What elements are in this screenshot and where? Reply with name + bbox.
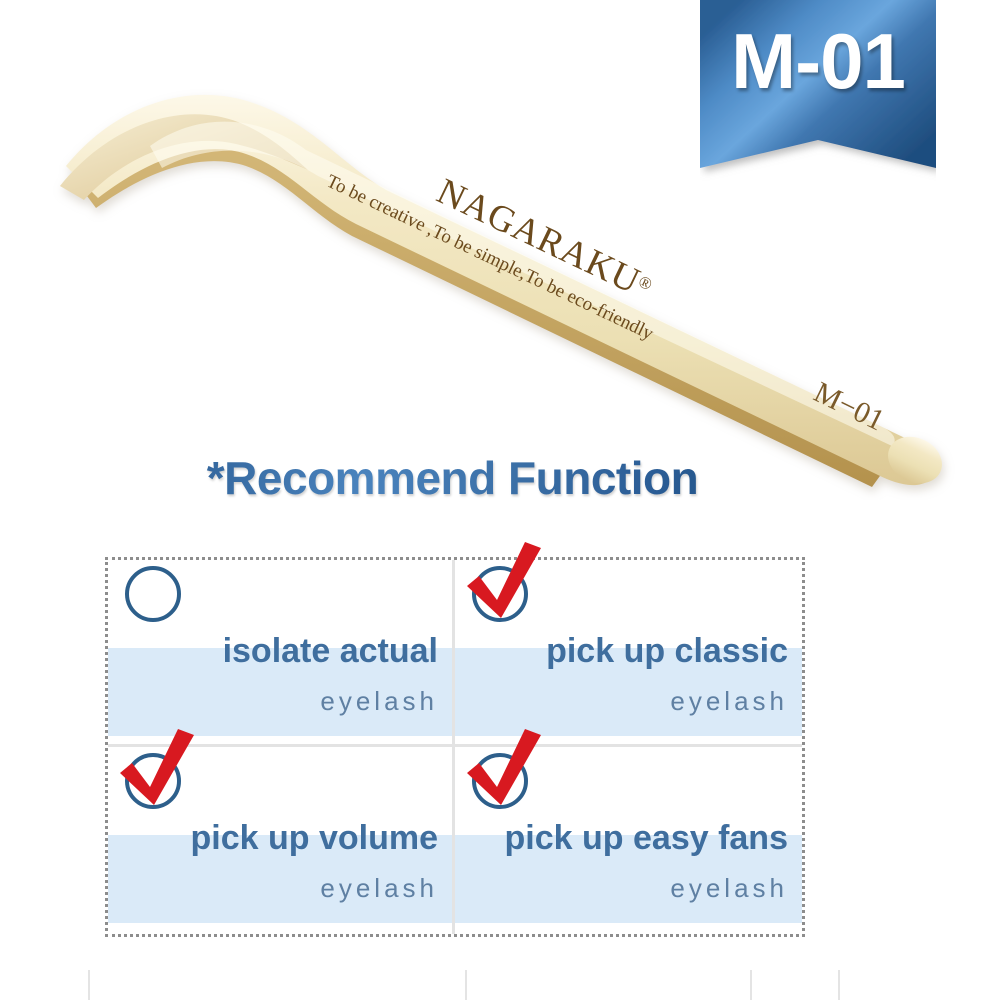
recommend-function-grid: isolate actual eyelash pick up classic e… bbox=[105, 557, 805, 937]
feature-subtitle: eyelash bbox=[455, 686, 788, 717]
feature-cell-pick-up-classic[interactable]: pick up classic eyelash bbox=[455, 560, 802, 747]
feature-subtitle: eyelash bbox=[108, 873, 438, 904]
red-check-icon bbox=[463, 548, 549, 634]
feature-cell-isolate-actual[interactable]: isolate actual eyelash bbox=[108, 560, 455, 747]
model-banner: M-01 bbox=[700, 0, 936, 185]
table-rule bbox=[465, 970, 467, 1000]
bottom-table-rules bbox=[0, 960, 1000, 1000]
feature-title: pick up classic bbox=[455, 634, 788, 670]
circle-empty-icon bbox=[116, 548, 202, 634]
red-check-icon bbox=[116, 735, 202, 821]
table-rule bbox=[750, 970, 752, 1000]
product-photo: NAGARAKU® To be creative ,To be simple,T… bbox=[0, 0, 1000, 500]
check-glyph bbox=[116, 729, 202, 815]
feature-subtitle: eyelash bbox=[108, 686, 438, 717]
table-rule bbox=[88, 970, 90, 1000]
model-banner-label: M-01 bbox=[700, 22, 936, 100]
feature-cell-pick-up-easy-fans[interactable]: pick up easy fans eyelash bbox=[455, 747, 802, 934]
check-glyph bbox=[463, 729, 549, 815]
check-glyph bbox=[463, 542, 549, 628]
feature-title: pick up volume bbox=[108, 821, 438, 857]
red-check-icon bbox=[463, 735, 549, 821]
feature-title: pick up easy fans bbox=[455, 821, 788, 857]
feature-cell-pick-up-volume[interactable]: pick up volume eyelash bbox=[108, 747, 455, 934]
table-rule bbox=[838, 970, 840, 1000]
page-title: *Recommend Function bbox=[0, 455, 905, 501]
feature-title: isolate actual bbox=[108, 634, 438, 670]
feature-subtitle: eyelash bbox=[455, 873, 788, 904]
